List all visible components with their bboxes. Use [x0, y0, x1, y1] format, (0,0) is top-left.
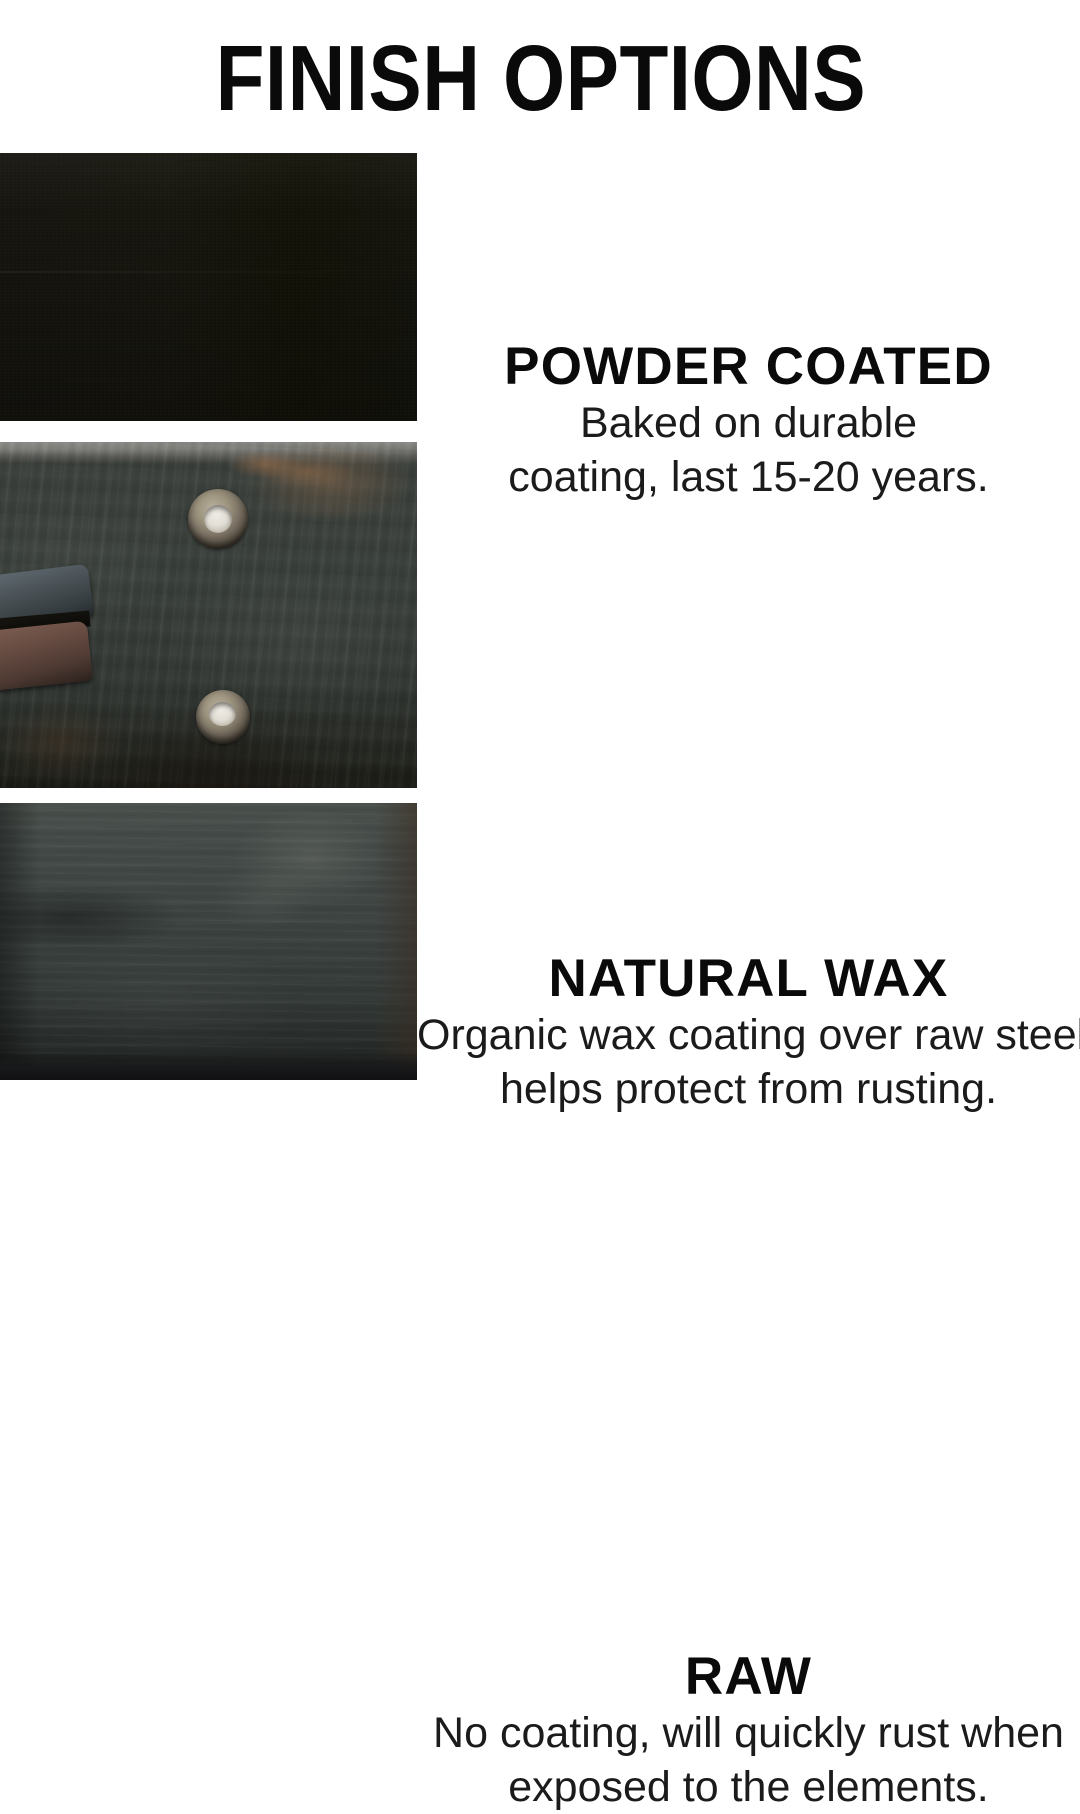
hole-bore — [204, 505, 232, 533]
raw-description: No coating, will quickly rust when expos… — [417, 1706, 1080, 1814]
countersunk-hole-upper — [188, 489, 248, 549]
raw-title: RAW — [417, 1648, 1080, 1706]
steel-bracket-lower — [0, 621, 93, 692]
finish-option-row-raw: RAW No coating, will quickly rust when e… — [0, 803, 1080, 1080]
powder-coated-title: POWDER COATED — [417, 338, 1080, 396]
description-line: No coating, will quickly rust when — [417, 1706, 1080, 1760]
hole-bore — [209, 702, 236, 726]
countersunk-hole-lower — [196, 690, 250, 744]
raw-text-block: RAW No coating, will quickly rust when e… — [417, 1648, 1080, 1814]
raw-swatch-image — [0, 803, 417, 1080]
natural-wax-swatch-image — [0, 442, 417, 788]
finish-option-row-powder-coated: POWDER COATED Baked on durable coating, … — [0, 153, 1080, 421]
page-title: FINISH OPTIONS — [76, 30, 1005, 126]
powder-coated-swatch-image — [0, 153, 417, 421]
description-line: exposed to the elements. — [417, 1760, 1080, 1814]
steel-bottom-edge — [0, 1054, 417, 1080]
steel-mottle-texture — [0, 803, 417, 1080]
finish-option-row-natural-wax: NATURAL WAX Organic wax coating over raw… — [0, 442, 1080, 788]
